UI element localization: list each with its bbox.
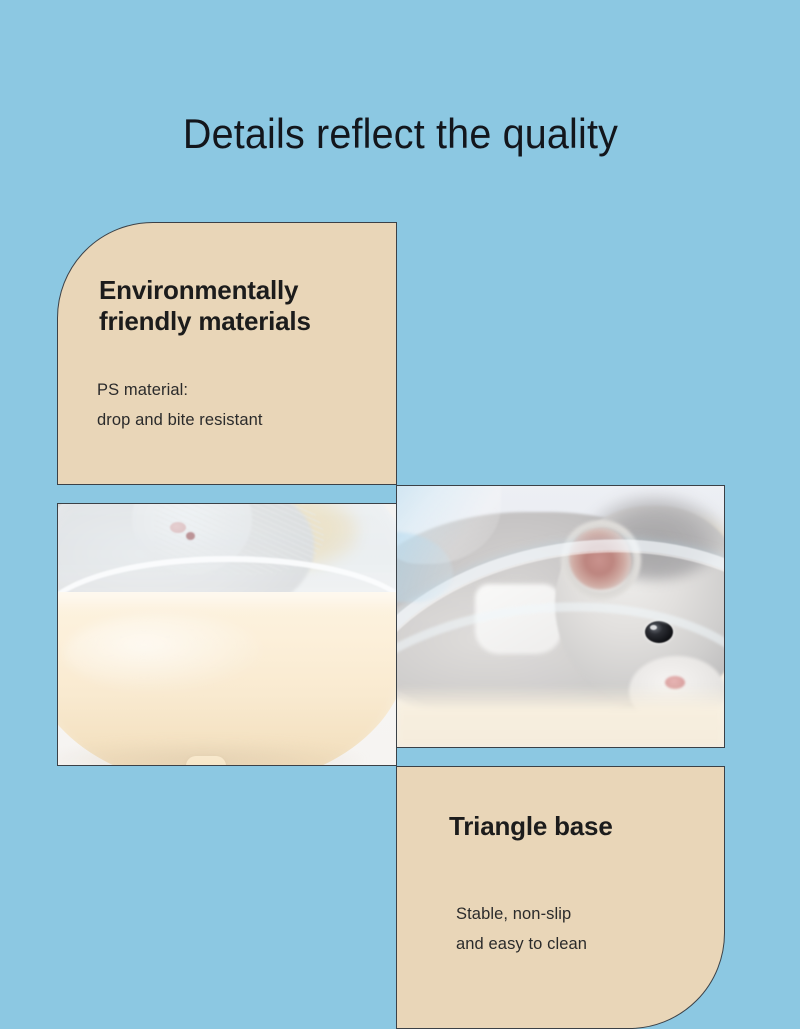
poster-root: Details reflect the quality Environmenta…: [0, 0, 800, 800]
card-body-environmentally-friendly-materials: PS material: drop and bite resistant: [97, 375, 263, 435]
title-bar: Details reflect the quality: [0, 84, 800, 184]
card-environmentally-friendly-materials: Environmentally friendly materials PS ma…: [57, 222, 397, 485]
card-heading-environmentally-friendly-materials: Environmentally friendly materials: [99, 275, 311, 336]
photo-bowl-triangle-base: [57, 503, 397, 766]
card-body-line-1: Stable, non-slip: [456, 899, 587, 929]
page-title: Details reflect the quality: [182, 112, 617, 156]
feature-row-top: Environmentally friendly materials PS ma…: [57, 222, 725, 485]
card-body-line-2: drop and bite resistant: [97, 405, 263, 435]
card-body-line-1: PS material:: [97, 375, 263, 405]
card-heading-triangle-base: Triangle base: [449, 811, 613, 842]
bowl-triangle-foot: [186, 756, 226, 766]
bowl-base-highlight: [64, 614, 264, 692]
card-triangle-base: Triangle base Stable, non-slip and easy …: [396, 766, 725, 1029]
card-body-line-2: and easy to clean: [456, 929, 587, 959]
card-body-triangle-base: Stable, non-slip and easy to clean: [456, 899, 587, 959]
feature-grid: Environmentally friendly materials PS ma…: [57, 222, 725, 771]
feature-row-bottom: Triangle base Stable, non-slip and easy …: [57, 503, 725, 766]
